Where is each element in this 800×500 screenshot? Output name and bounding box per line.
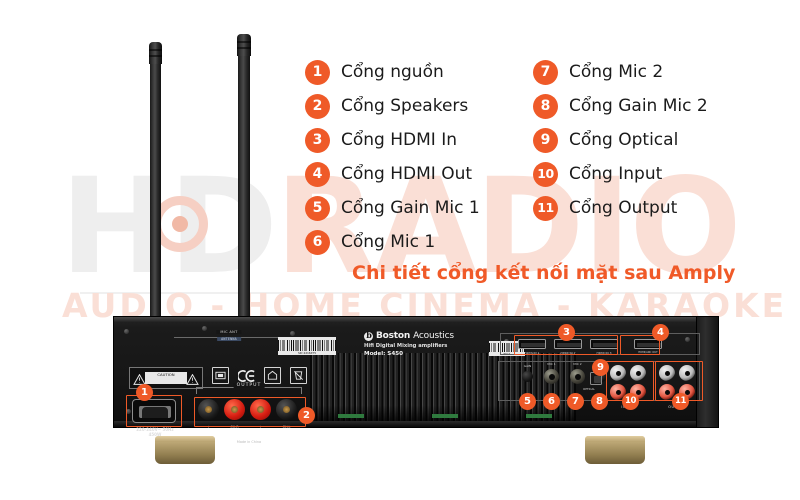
- legend-item-5: 5 Cổng Gain Mic 1: [305, 191, 535, 225]
- class-ii-icon: [212, 367, 229, 384]
- boston-acoustics-logo-icon: [364, 332, 373, 341]
- legend-item-11: 11 Cổng Output: [533, 191, 743, 225]
- legend-item-6: 6 Cổng Mic 1: [305, 225, 535, 259]
- legend-label-4: Cổng HDMI Out: [341, 164, 472, 184]
- brand-name-row: Boston Acoustics: [364, 331, 484, 341]
- legend-label-2: Cổng Speakers: [341, 96, 468, 116]
- legend-badge-5: 5: [305, 196, 330, 221]
- mic-2-label: MIC 2: [573, 362, 581, 366]
- house-mark-icon: [264, 367, 281, 384]
- legend-badge-3: 3: [305, 128, 330, 153]
- warning-triangle-right-icon: [186, 372, 199, 383]
- brand-name-bold: Boston: [376, 331, 410, 341]
- legend-label-9: Cổng Optical: [569, 130, 678, 150]
- legend-label-10: Cổng Input: [569, 164, 662, 184]
- ce-mark-icon: [238, 367, 255, 384]
- watermark-divider: [80, 292, 710, 294]
- brand-model: Model: S450: [364, 351, 484, 357]
- antenna-right-rod: [238, 34, 250, 326]
- legend-item-7: 7 Cổng Mic 2: [533, 55, 743, 89]
- callout-box-speakers: [194, 397, 306, 427]
- screw-top-right: [290, 331, 295, 336]
- amplifier-chassis: MIC ANT ANTENNA CAUTION: [113, 316, 719, 428]
- mic-antenna-sublabel: ANTENNA: [217, 337, 241, 341]
- screenshot-root: HD RADIO AUDIO - HOME CINEMA - KARAOKE 1…: [0, 0, 800, 500]
- mic-1-label: MIC 1: [547, 362, 555, 366]
- amplifier-foot-left: [155, 436, 215, 464]
- legend-item-8: 8 Cổng Gain Mic 2: [533, 89, 743, 123]
- mic-1-jack[interactable]: MIC 1: [544, 369, 559, 384]
- barcode-bars-1: [278, 340, 336, 351]
- brand-plate: Boston Acoustics Hifi Digital Mixing amp…: [364, 331, 484, 357]
- certification-icons: [212, 367, 307, 384]
- photo-marker-2: 2: [298, 407, 315, 424]
- legend-item-3: 3 Cổng HDMI In: [305, 123, 535, 157]
- photo-marker-9: 9: [592, 359, 609, 376]
- caption-text: Chi tiết cổng kết nối mặt sau Amply: [352, 262, 735, 284]
- legend-label-1: Cổng nguồn: [341, 62, 444, 82]
- legend-label-6: Cổng Mic 1: [341, 232, 435, 252]
- barcode-label-1: SN:4216075: [278, 337, 336, 355]
- brand-subtitle: Hifi Digital Mixing amplifiers: [364, 343, 484, 349]
- warning-triangle-left-icon: [133, 372, 146, 383]
- screw-top-left: [124, 329, 129, 334]
- legend-badge-9: 9: [533, 128, 558, 153]
- optical-label: OPTICAL: [583, 387, 595, 391]
- mic-antenna-label: MIC ANT: [216, 330, 241, 334]
- brand-name-thin: Acoustics: [413, 331, 454, 341]
- photo-marker-4: 4: [652, 324, 669, 341]
- legend-label-5: Cổng Gain Mic 1: [341, 198, 480, 218]
- legend-label-11: Cổng Output: [569, 198, 677, 218]
- mic-antenna-label-group: MIC ANT ANTENNA: [174, 331, 284, 344]
- caution-text: CAUTION: [145, 372, 187, 383]
- antenna-left: [150, 42, 161, 324]
- chassis-top-edge: [114, 317, 718, 322]
- legend-badge-10: 10: [533, 162, 558, 187]
- output-bracket: [196, 387, 302, 394]
- photo-marker-5: 5: [519, 393, 536, 410]
- output-group-label: OUTPUT: [234, 383, 265, 388]
- photo-marker-6: 6: [543, 393, 560, 410]
- legend-label-3: Cổng HDMI In: [341, 130, 457, 150]
- legend-label-7: Cổng Mic 2: [569, 62, 663, 82]
- gain-mic-1-label: GAIN: [524, 364, 532, 368]
- legend-label-8: Cổng Gain Mic 2: [569, 96, 708, 116]
- legend-column-right: 7 Cổng Mic 2 8 Cổng Gain Mic 2 9 Cổng Op…: [533, 55, 743, 225]
- gain-mic-1-knob[interactable]: GAIN: [522, 371, 533, 382]
- legend-badge-1: 1: [305, 60, 330, 85]
- legend-column-left: 1 Cổng nguồn 2 Cổng Speakers 3 Cổng HDMI…: [305, 55, 535, 259]
- legend-badge-2: 2: [305, 94, 330, 119]
- photo-marker-10: 10: [622, 393, 639, 410]
- heatsink-shadow: [310, 405, 576, 421]
- antenna-right-tip: [237, 34, 251, 56]
- photo-marker-7: 7: [567, 393, 584, 410]
- voltage-rating-text: 220-240V~ 50Hz 450W: [130, 427, 180, 438]
- made-in-text: Made in China: [237, 440, 261, 444]
- antenna-left-rod: [150, 42, 161, 324]
- barcode-text-1: SN:4216075: [278, 351, 336, 355]
- photo-marker-11: 11: [672, 393, 689, 410]
- callout-box-power: [126, 395, 182, 427]
- voltage-value: 220-240V~ 50Hz: [136, 427, 173, 432]
- legend-badge-8: 8: [533, 94, 558, 119]
- pcb-tab-1: [338, 414, 364, 418]
- amplifier-rear-panel-photo: MIC ANT ANTENNA CAUTION: [113, 316, 719, 446]
- legend-badge-6: 6: [305, 230, 330, 255]
- legend-item-1: 1 Cổng nguồn: [305, 55, 535, 89]
- mic-2-jack[interactable]: MIC 2: [570, 369, 585, 384]
- power-value: 450W: [149, 432, 162, 437]
- weee-crossed-bin-icon: [290, 367, 307, 384]
- pcb-tab-2: [432, 414, 458, 418]
- legend-item-9: 9 Cổng Optical: [533, 123, 743, 157]
- legend-item-2: 2 Cổng Speakers: [305, 89, 535, 123]
- legend-badge-7: 7: [533, 60, 558, 85]
- legend-item-10: 10 Cổng Input: [533, 157, 743, 191]
- legend-item-4: 4 Cổng HDMI Out: [305, 157, 535, 191]
- photo-marker-3: 3: [558, 324, 575, 341]
- photo-marker-8: 8: [591, 393, 608, 410]
- antenna-left-tip: [149, 42, 162, 64]
- pcb-tab-3: [526, 414, 552, 418]
- photo-marker-1: 1: [136, 384, 153, 401]
- antenna-right: [238, 34, 250, 326]
- legend-badge-11: 11: [533, 196, 558, 221]
- amplifier-foot-right: [585, 436, 645, 464]
- legend-badge-4: 4: [305, 162, 330, 187]
